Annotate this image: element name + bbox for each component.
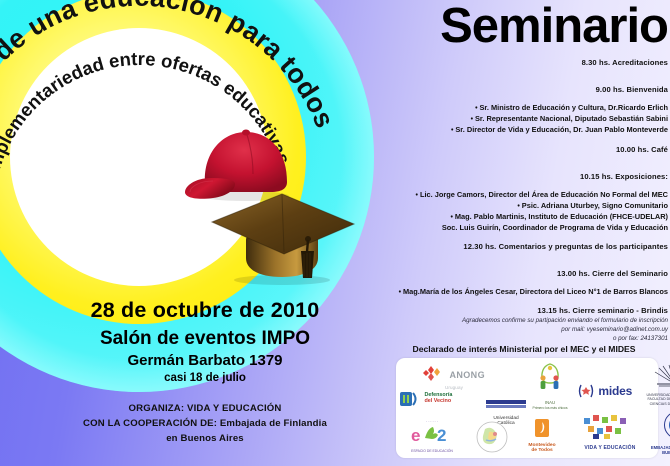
agenda-speaker-label: Sr. Ministro de Educación y Cultura, Dr.… xyxy=(479,103,668,112)
logo-mides: mides xyxy=(572,382,638,400)
e2-mark-icon: e 2 xyxy=(411,424,453,444)
mides-mark-icon xyxy=(578,384,594,398)
event-address: Germán Barbato 1379 xyxy=(40,352,370,369)
agenda-speaker-item: • Lic. Jorge Camors, Director del Área d… xyxy=(382,190,668,200)
agenda-speaker-item: Soc. Luis Guirín, Coordinador de Program… xyxy=(382,223,668,233)
udelar-sun-icon xyxy=(653,364,670,388)
anong-mark-icon xyxy=(423,364,445,384)
agenda-time-heading: 10.15 hs. Exposiciones: xyxy=(382,172,668,181)
registration-note: Agradecemos confirme su partipación envi… xyxy=(430,317,668,344)
event-venue: Salón de eventos IMPO xyxy=(40,328,370,350)
vida-y-educacion-mark-icon xyxy=(580,414,640,440)
organizer-line: CON LA COOPERACIÓN DE: Embajada de Finla… xyxy=(30,417,380,432)
agenda-speaker-label: Psic. Adriana Uturbey, Signo Comunitario xyxy=(522,201,668,210)
logo-ceip xyxy=(472,420,512,459)
agenda-speaker-label: Lic. Jorge Camors, Director del Área de … xyxy=(420,190,668,199)
e2-caption: ESPACIO DE EDUCACIÓN xyxy=(400,449,464,453)
logo-defensoria-del-vecino: Defensoría del Vecino xyxy=(400,390,476,408)
graduation-cap-icon xyxy=(208,182,358,286)
agenda-speaker-item: • Mag.María de los Ángeles Cesar, Direct… xyxy=(382,287,668,297)
logo-embajada-de-finlandia: EMBAJADA DE FINLANDIA BUENOS AIRES xyxy=(648,410,670,455)
agenda-list: 8.30 hs. Acreditaciones9.00 hs. Bienveni… xyxy=(382,58,668,333)
registration-note-line: por mail: vyeseminario@adinet.com.uy xyxy=(430,326,668,335)
agenda-spacer xyxy=(382,260,668,269)
event-date: 28 de octubre de 2010 xyxy=(40,299,370,322)
agenda-speaker-item: • Sr. Ministro de Educación y Cultura, D… xyxy=(382,103,668,113)
mides-label: mides xyxy=(598,384,632,398)
finlandia-label: EMBAJADA DE FINLANDIA BUENOS AIRES xyxy=(648,445,670,455)
organizer-line: en Buenos Aires xyxy=(30,432,380,447)
agenda-time-heading: 13.00 hs. Cierre del Seminario xyxy=(382,269,668,278)
organizer-block: ORGANIZA: VIDA Y EDUCACIÓNCON LA COOPERA… xyxy=(30,402,380,447)
finland-coat-of-arms-icon xyxy=(663,410,670,440)
agenda-speaker-list: • Sr. Ministro de Educación y Cultura, D… xyxy=(382,103,668,136)
agenda-speaker-label: Mag.María de los Ángeles Cesar, Director… xyxy=(403,287,668,296)
event-nearby: casi 18 de julio xyxy=(40,372,370,384)
udelar-caption: UNIVERSIDAD DE LA REPÚBLICA FACULTAD DE … xyxy=(646,393,670,406)
anong-label: ANONG xyxy=(449,370,485,380)
logo-inau: INAU Primero los más chicos xyxy=(524,362,576,411)
agenda-speaker-list: • Lic. Jorge Camors, Director del Área d… xyxy=(382,190,668,233)
agenda-speaker-label: Mag. Pablo Martinis, Instituto de Educac… xyxy=(455,212,668,221)
agenda-spacer xyxy=(382,76,668,85)
registration-note-line: Agradecemos confirme su partipación envi… xyxy=(430,317,668,326)
agenda-time-heading: 12.30 hs. Comentarios y preguntas de los… xyxy=(382,242,668,251)
inau-mark-icon xyxy=(530,362,570,396)
agenda-speaker-list: • Mag.María de los Ángeles Cesar, Direct… xyxy=(382,287,668,297)
sponsor-logos-panel: ANONG Uruguay Defensoría del Vecino Univ… xyxy=(396,358,658,458)
vida-y-educacion-label: VIDA Y EDUCACIÓN xyxy=(572,445,648,451)
logo-udelar: UNIVERSIDAD DE LA REPÚBLICA FACULTAD DE … xyxy=(646,364,670,406)
svg-text:2: 2 xyxy=(437,426,446,444)
montevideo-label: Montevideo de Todos xyxy=(518,443,566,454)
logo-montevideo-de-todos: Montevideo de Todos xyxy=(518,418,566,454)
agenda-time-heading: 8.30 hs. Acreditaciones xyxy=(382,58,668,67)
page-title: Seminario xyxy=(380,2,668,51)
defensoria-label: Defensoría del Vecino xyxy=(424,393,452,404)
registration-note-line: o por fax: 24137301 xyxy=(430,335,668,344)
logo-vida-y-educacion: VIDA Y EDUCACIÓN xyxy=(572,414,648,451)
organizer-line: ORGANIZA: VIDA Y EDUCACIÓN xyxy=(30,402,380,417)
logo-anong: ANONG Uruguay xyxy=(410,364,498,390)
inau-label: INAU Primero los más chicos xyxy=(524,401,576,411)
agenda-time-heading: 10.00 hs. Café xyxy=(382,145,668,154)
agenda-speaker-item: • Mag. Pablo Martinis, Instituto de Educ… xyxy=(382,212,668,222)
logo-e2: · · · · · · e 2 ESPACIO DE EDUCACIÓN xyxy=(400,420,464,453)
agenda-time-heading: 13.15 hs. Cierre seminario - Brindis xyxy=(382,306,668,315)
agenda-spacer xyxy=(382,163,668,172)
agenda-speaker-item: • Psic. Adriana Uturbey, Signo Comunitar… xyxy=(382,201,668,211)
agenda-speaker-item: • Sr. Representante Nacional, Diputado S… xyxy=(382,114,668,124)
ministerial-declaration: Declarado de interés Ministerial por el … xyxy=(380,344,668,354)
agenda-speaker-label: Sr. Director de Vida y Educación, Dr. Ju… xyxy=(455,125,668,134)
defensoria-mark-icon xyxy=(400,392,420,406)
montevideo-mark-icon xyxy=(534,418,550,438)
ceip-mark-icon xyxy=(475,420,509,454)
agenda-speaker-label: Sr. Representante Nacional, Diputado Seb… xyxy=(475,114,668,123)
event-details: 28 de octubre de 2010 Salón de eventos I… xyxy=(40,299,370,384)
agenda-time-heading: 9.00 hs. Bienvenida xyxy=(382,85,668,94)
seminar-poster: Los retos de una educación para todos Co… xyxy=(0,0,670,466)
svg-text:e: e xyxy=(411,426,420,444)
agenda-speaker-item: • Sr. Director de Vida y Educación, Dr. … xyxy=(382,125,668,135)
agenda-speaker-label: Soc. Luis Guirín, Coordinador de Program… xyxy=(442,223,668,232)
ucu-mark-icon xyxy=(486,399,526,411)
